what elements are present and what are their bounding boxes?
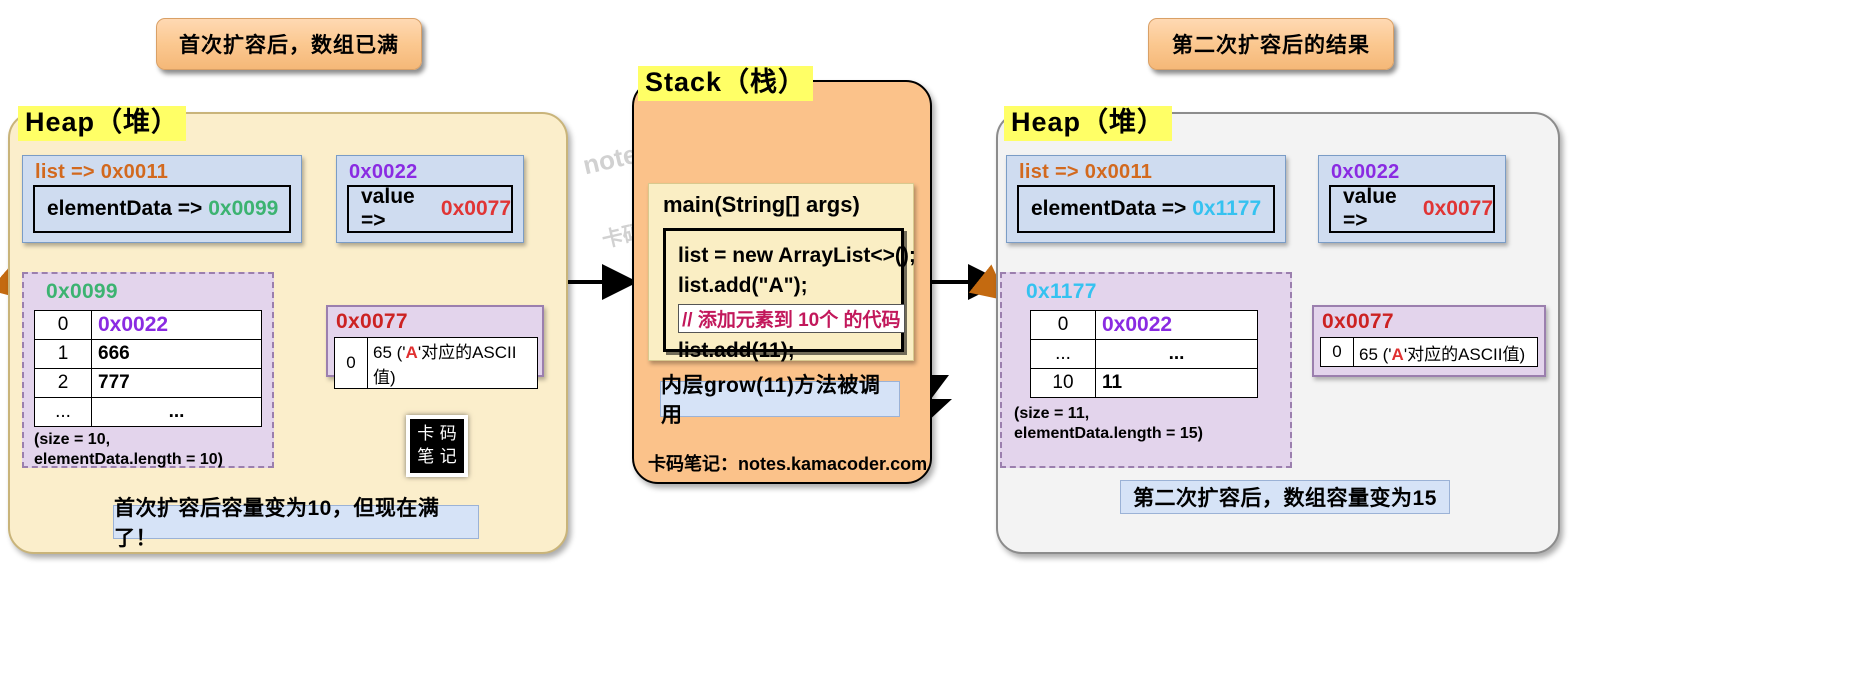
- stack-frame-main: main(String[] args) list = new ArrayList…: [648, 183, 914, 361]
- array-size-info-right: (size = 11, elementData.length = 15): [1014, 404, 1203, 444]
- elementdata-field-right: elementData => 0x1177: [1017, 185, 1275, 233]
- table-row: ... ...: [1031, 340, 1258, 369]
- ascii-region-left: 0x0077 0 65 ('A'对应的ASCII值): [326, 305, 544, 377]
- elementdata-value-left: 0x0099: [208, 197, 278, 221]
- value-label-right: value =>: [1343, 185, 1417, 233]
- array-table-right: 0 0x0022 ... ... 10 11: [1030, 310, 1258, 398]
- size-line-2: elementData.length = 15): [1014, 424, 1203, 444]
- code-line: list.add("A");: [678, 271, 901, 301]
- array-size-info-left: (size = 10, elementData.length = 10): [34, 430, 223, 470]
- array-address-right: 0x1177: [1026, 280, 1097, 304]
- code-line: list = new ArrayList<>();: [678, 241, 901, 271]
- heap-left-title: Heap（堆）: [18, 106, 186, 141]
- value-value-left: 0x0077: [441, 197, 511, 221]
- list-object-box-right: list => 0x0011 elementData => 0x1177: [1006, 155, 1286, 243]
- logo-line-2: 笔 记: [417, 446, 456, 469]
- elementdata-field-left: elementData => 0x0099: [33, 185, 291, 233]
- array-index-cell: 1: [35, 340, 92, 369]
- string-object-box-right: 0x0022 value => 0x0077: [1318, 155, 1506, 243]
- array-address-left: 0x0099: [46, 280, 118, 304]
- array-value-cell: 777: [92, 369, 262, 398]
- value-field-right: value => 0x0077: [1329, 185, 1495, 233]
- stack-footer: 卡码笔记：notes.kamacoder.com: [648, 450, 927, 476]
- logo-line-1: 卡 码: [417, 423, 456, 446]
- array-index-cell: 10: [1031, 369, 1096, 398]
- caption-right: 第二次扩容后，数组容量变为15: [1120, 480, 1450, 514]
- size-line-1: (size = 11,: [1014, 404, 1203, 424]
- stack-title: Stack（栈）: [638, 66, 813, 101]
- array-value-cell: ...: [1096, 340, 1258, 369]
- ascii-index-cell: 0: [1321, 338, 1354, 367]
- string-object-address-right: 0x0022: [1331, 161, 1400, 184]
- table-row: 0 65 ('A'对应的ASCII值): [1321, 338, 1538, 367]
- array-table-left: 0 0x0022 1 666 2 777 ... ...: [34, 310, 262, 427]
- array-index-cell: ...: [35, 398, 92, 427]
- table-row: 0 0x0022: [35, 311, 262, 340]
- string-object-box-left: 0x0022 value => 0x0077: [336, 155, 524, 243]
- array-index-cell: ...: [1031, 340, 1096, 369]
- table-row: 2 777: [35, 369, 262, 398]
- ascii-table-right: 0 65 ('A'对应的ASCII值): [1320, 337, 1538, 367]
- elementdata-label-right: elementData =>: [1031, 197, 1186, 221]
- banner-left: 首次扩容后，数组已满: [156, 18, 422, 70]
- value-label-left: value =>: [361, 185, 435, 233]
- table-row: 0 0x0022: [1031, 311, 1258, 340]
- ascii-address-right: 0x0077: [1322, 310, 1394, 334]
- ascii-region-right: 0x0077 0 65 ('A'对应的ASCII值): [1312, 305, 1546, 377]
- array-value-cell: ...: [92, 398, 262, 427]
- list-object-box-left: list => 0x0011 elementData => 0x0099: [22, 155, 302, 243]
- table-row: ... ...: [35, 398, 262, 427]
- elementdata-label-left: elementData =>: [47, 197, 202, 221]
- array-value-cell: 666: [92, 340, 262, 369]
- ascii-table-left: 0 65 ('A'对应的ASCII值): [334, 337, 538, 389]
- ascii-address-left: 0x0077: [336, 310, 408, 334]
- array-index-cell: 2: [35, 369, 92, 398]
- list-object-address-right: list => 0x0011: [1019, 161, 1152, 184]
- frame-title: main(String[] args): [663, 192, 860, 218]
- ascii-value-cell: 65 ('A'对应的ASCII值): [1354, 338, 1538, 367]
- array-region-right: 0x1177 0 0x0022 ... ... 10 11 (size = 11…: [1000, 272, 1292, 468]
- heap-right-title: Heap（堆）: [1004, 106, 1172, 141]
- array-index-cell: 0: [1031, 311, 1096, 340]
- frame-code-block: list = new ArrayList<>(); list.add("A");…: [663, 228, 904, 352]
- caption-left: 首次扩容后容量变为10，但现在满了！: [113, 505, 479, 539]
- array-value-cell: 11: [1096, 369, 1258, 398]
- array-value-cell: 0x0022: [92, 311, 262, 340]
- list-object-address-left: list => 0x0011: [35, 161, 168, 184]
- grow-caption: 内层grow(11)方法被调用: [660, 381, 900, 417]
- array-region-left: 0x0099 0 0x0022 1 666 2 777 ... ... (siz…: [22, 272, 274, 468]
- size-line-2: elementData.length = 10): [34, 450, 223, 470]
- table-row: 10 11: [1031, 369, 1258, 398]
- size-line-1: (size = 10,: [34, 430, 223, 450]
- table-row: 1 666: [35, 340, 262, 369]
- array-value-cell: 0x0022: [1096, 311, 1258, 340]
- code-line: list.add(11);: [678, 336, 901, 366]
- value-field-left: value => 0x0077: [347, 185, 513, 233]
- string-object-address-left: 0x0022: [349, 161, 418, 184]
- code-comment-line: // 添加元素到 10个 的代码: [678, 304, 905, 333]
- array-index-cell: 0: [35, 311, 92, 340]
- kama-logo: 卡 码 笔 记: [406, 415, 468, 477]
- ascii-value-cell: 65 ('A'对应的ASCII值): [368, 338, 538, 389]
- ascii-index-cell: 0: [335, 338, 368, 389]
- banner-right: 第二次扩容后的结果: [1148, 18, 1394, 70]
- elementdata-value-right: 0x1177: [1192, 197, 1261, 221]
- table-row: 0 65 ('A'对应的ASCII值): [335, 338, 538, 389]
- value-value-right: 0x0077: [1423, 197, 1493, 221]
